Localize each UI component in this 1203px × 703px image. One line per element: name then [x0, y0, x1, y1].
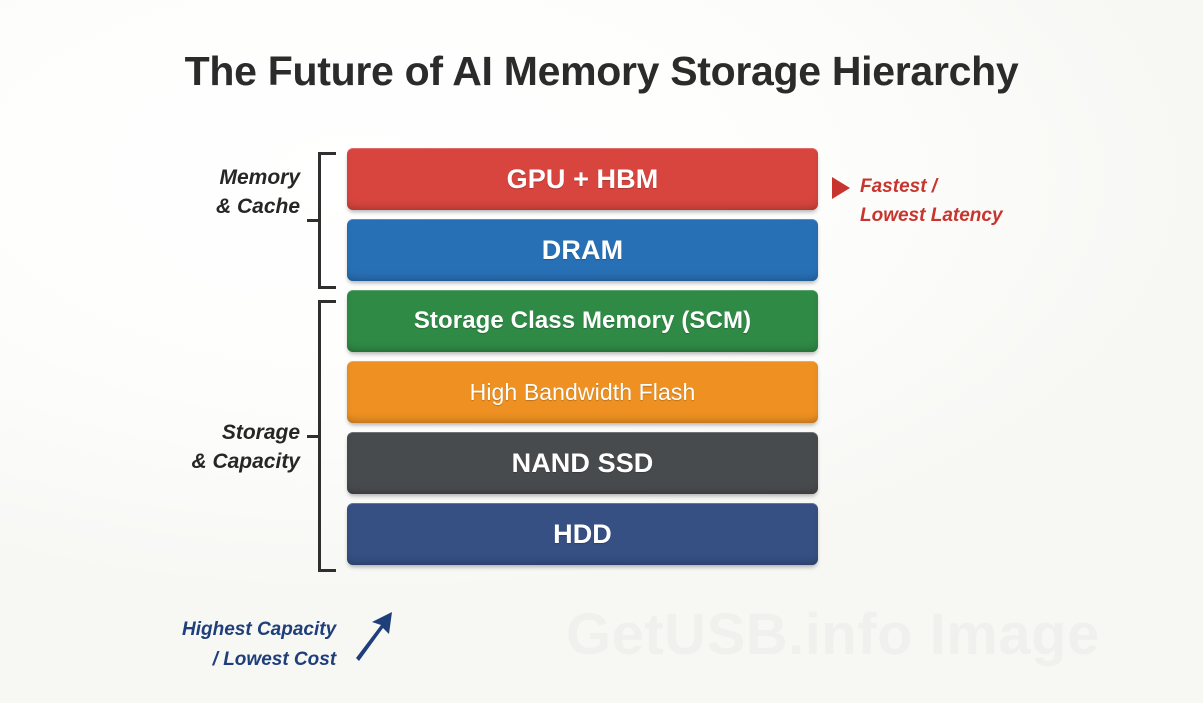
bracket-storage	[318, 300, 336, 572]
watermark: GetUSB.info Image	[566, 601, 1100, 668]
group-label-storage: Storage & Capacity	[110, 418, 300, 476]
annotation-fastest-text: Fastest / Lowest Latency	[860, 172, 1003, 230]
layer-hdd[interactable]: HDD	[347, 503, 818, 565]
bracket-memory-tick	[307, 219, 321, 222]
layer-dram[interactable]: DRAM	[347, 219, 818, 281]
layer-label-scm: Storage Class Memory (SCM)	[414, 307, 751, 335]
layer-label-dram: DRAM	[542, 235, 623, 266]
layer-label-gpu-hbm: GPU + HBM	[507, 164, 659, 195]
layer-gpu-hbm[interactable]: GPU + HBM	[347, 148, 818, 210]
arrow-up-right-icon	[350, 608, 396, 667]
layer-label-nand-ssd: NAND SSD	[512, 448, 654, 479]
layer-label-high-bandwidth-flash: High Bandwidth Flash	[470, 379, 696, 406]
layer-nand-ssd[interactable]: NAND SSD	[347, 432, 818, 494]
hierarchy-stack: GPU + HBM DRAM Storage Class Memory (SCM…	[347, 148, 818, 574]
layer-label-hdd: HDD	[553, 519, 612, 550]
annotation-capacity: Highest Capacity / Lowest Cost	[182, 608, 396, 681]
group-label-memory: Memory & Cache	[110, 163, 300, 221]
bracket-storage-tick	[307, 435, 321, 438]
diagram-canvas: The Future of AI Memory Storage Hierarch…	[0, 0, 1203, 703]
layer-high-bandwidth-flash[interactable]: High Bandwidth Flash	[347, 361, 818, 423]
bracket-memory	[318, 152, 336, 289]
annotation-fastest: Fastest / Lowest Latency	[832, 172, 1003, 230]
annotation-capacity-text: Highest Capacity / Lowest Cost	[182, 615, 336, 675]
page-title: The Future of AI Memory Storage Hierarch…	[0, 48, 1203, 95]
layer-scm[interactable]: Storage Class Memory (SCM)	[347, 290, 818, 352]
triangle-right-icon	[832, 177, 850, 199]
